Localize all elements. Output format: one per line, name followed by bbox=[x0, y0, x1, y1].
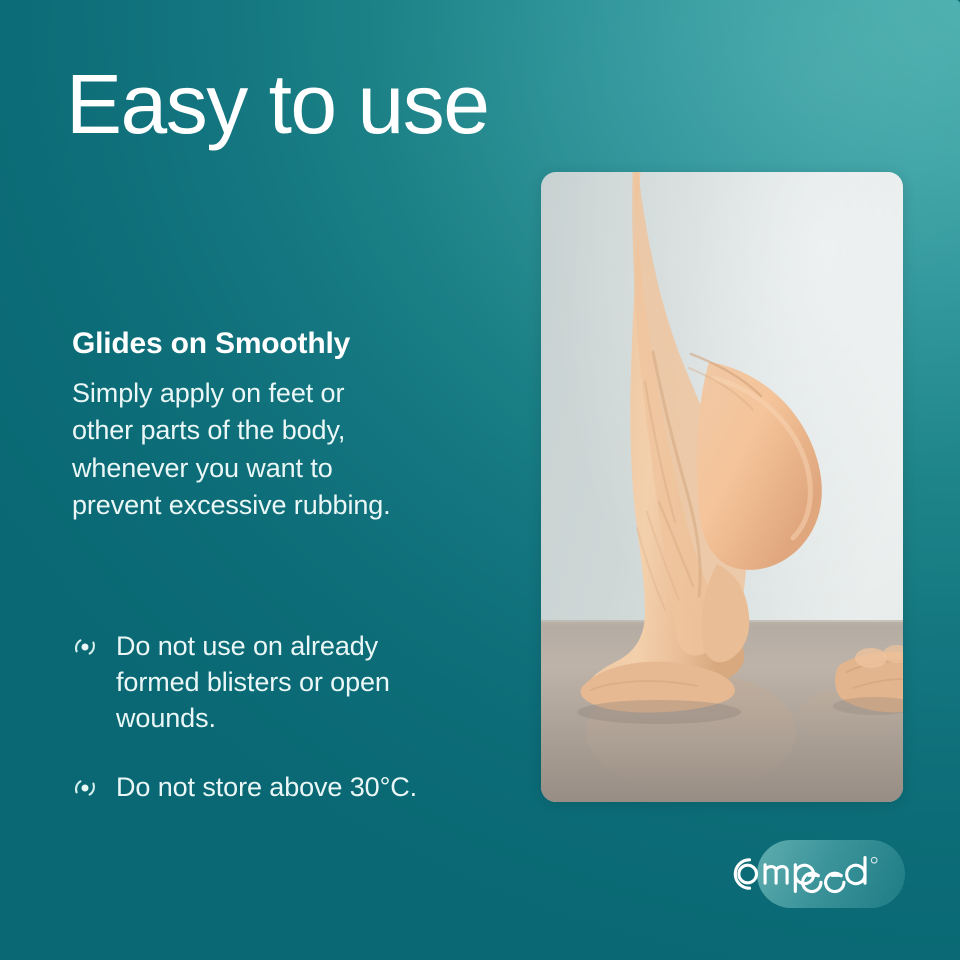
product-photo bbox=[541, 172, 903, 802]
list-item: Do not use on already formed blisters or… bbox=[72, 628, 492, 737]
feature-body: Simply apply on feet or other parts of t… bbox=[72, 375, 492, 524]
feature-title: Glides on Smoothly bbox=[72, 327, 492, 361]
swirl-icon bbox=[72, 775, 98, 801]
warning-list: Do not use on already formed blisters or… bbox=[72, 628, 492, 805]
list-item-label: Do not use on already formed blisters or… bbox=[116, 628, 390, 737]
feature-copy-block: Glides on Smoothly Simply apply on feet … bbox=[72, 327, 492, 524]
compeed-logo bbox=[722, 852, 905, 896]
page-title: Easy to use bbox=[66, 62, 488, 146]
promo-card: Easy to use Glides on Smoothly Simply ap… bbox=[0, 0, 960, 960]
list-item-label: Do not store above 30°C. bbox=[116, 769, 417, 805]
list-item: Do not store above 30°C. bbox=[72, 769, 492, 805]
swirl-icon bbox=[72, 634, 98, 660]
